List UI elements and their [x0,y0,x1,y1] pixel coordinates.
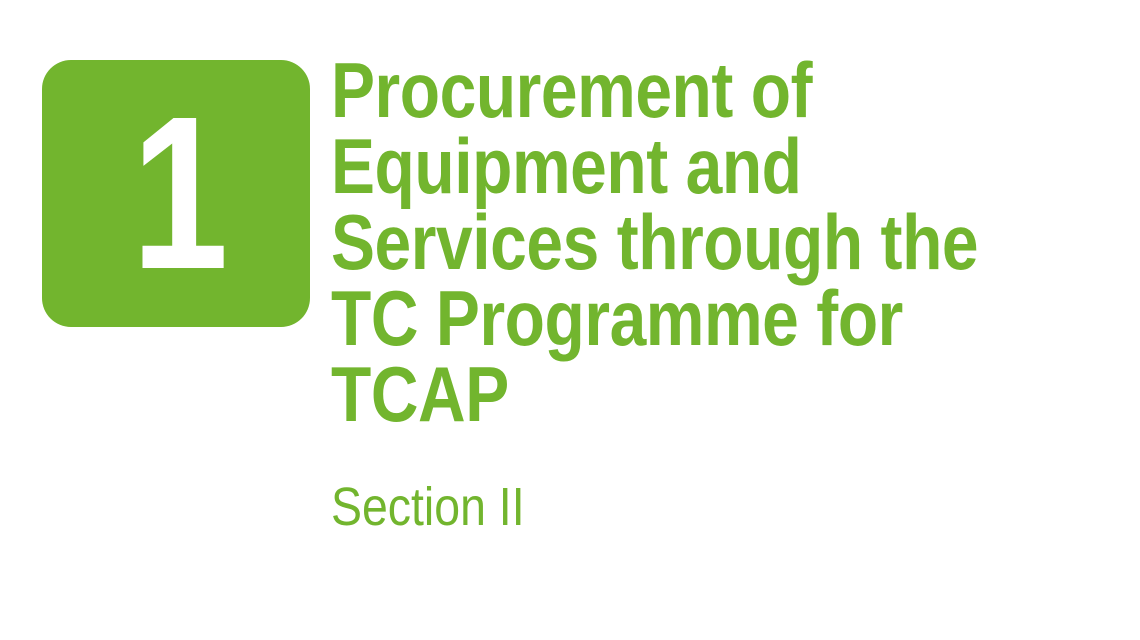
page-title: Procurement of Equipment and Services th… [331,52,999,432]
section-text-column: Procurement of Equipment and Services th… [331,52,1121,432]
section-subtitle: Section II [331,476,525,538]
section-divider-slide: 1 Procurement of Equipment and Services … [0,0,1140,640]
section-number-badge: 1 [42,60,310,327]
section-number-label: 1 [69,60,283,327]
